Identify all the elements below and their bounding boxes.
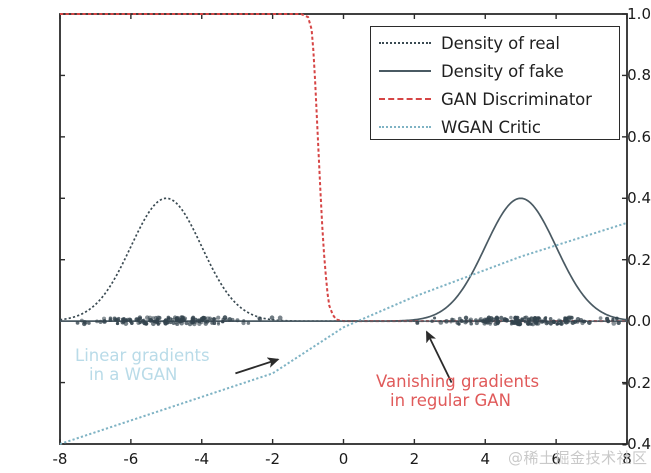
sample-point — [167, 316, 171, 320]
watermark: @稀土掘金技术社区 — [508, 447, 648, 468]
sample-point — [449, 320, 452, 323]
sample-point — [98, 320, 102, 324]
sample-point — [556, 322, 560, 326]
sample-point — [559, 322, 563, 326]
sample-point — [568, 315, 573, 320]
sample-point — [212, 317, 216, 321]
sample-point — [120, 320, 124, 324]
sample-point — [102, 317, 106, 321]
sample-point — [184, 321, 188, 325]
legend-label-wgan-critic: WGAN Critic — [441, 118, 541, 137]
x-tick-label: 4 — [480, 450, 490, 468]
sample-point — [495, 320, 500, 325]
sample-point — [247, 321, 251, 325]
sample-point — [444, 319, 449, 324]
sample-point — [527, 318, 531, 322]
sample-point — [438, 320, 443, 325]
sample-point — [116, 322, 119, 325]
legend-item-gan-discriminator[interactable]: GAN Discriminator — [371, 85, 619, 113]
x-tick-label: -2 — [265, 450, 280, 468]
sample-point — [87, 321, 91, 325]
sample-point — [517, 319, 520, 322]
sample-point — [128, 318, 132, 322]
sample-point — [457, 322, 460, 325]
sample-point — [474, 318, 478, 322]
x-tick-label: 2 — [410, 450, 420, 468]
sample-point — [76, 321, 80, 325]
sample-point — [116, 318, 120, 322]
sample-point — [481, 319, 484, 322]
sample-point — [563, 317, 568, 322]
annotation-gan-line2: in regular GAN — [376, 391, 539, 410]
sample-point — [485, 320, 489, 324]
annotation-wgan: Linear gradients in a WGAN — [75, 346, 210, 385]
annotation-wgan-line2: in a WGAN — [75, 365, 210, 384]
y-tick-label: 0.2 — [599, 251, 651, 269]
sample-point — [204, 322, 208, 326]
sample-point — [415, 321, 419, 325]
legend-swatch-density-fake — [379, 61, 431, 81]
sample-point — [537, 316, 540, 319]
sample-point — [197, 322, 201, 326]
sample-point — [433, 316, 436, 319]
sample-point — [228, 317, 232, 321]
sample-point — [258, 317, 262, 321]
legend-label-density-real: Density of real — [441, 34, 560, 53]
sample-point — [235, 318, 239, 322]
sample-point — [164, 320, 167, 323]
annotation-gan-line1: Vanishing gradients — [376, 372, 539, 391]
sample-point — [464, 316, 468, 320]
sample-point — [509, 316, 513, 320]
sample-point — [221, 318, 224, 321]
sample-point — [95, 319, 99, 323]
sample-point — [534, 320, 538, 324]
annotation-wgan-line1: Linear gradients — [75, 346, 210, 365]
sample-point — [156, 316, 161, 321]
legend-swatch-density-real — [379, 33, 431, 53]
sample-point — [270, 315, 275, 320]
sample-point — [510, 320, 514, 324]
x-tick-label: 0 — [339, 450, 349, 468]
sample-point — [587, 320, 592, 325]
y-tick-label: 0.0 — [599, 312, 651, 330]
legend-item-wgan-critic[interactable]: WGAN Critic — [371, 113, 619, 141]
x-tick-label: -4 — [194, 450, 209, 468]
sample-point — [544, 319, 548, 323]
sample-point — [213, 321, 217, 325]
sample-point — [109, 318, 113, 322]
legend-item-density-fake[interactable]: Density of fake — [371, 57, 619, 85]
x-tick-label: -6 — [123, 450, 138, 468]
sample-point — [495, 317, 498, 320]
sample-point — [242, 319, 245, 322]
sample-point — [523, 316, 527, 320]
sample-point — [570, 320, 575, 325]
sample-point — [517, 322, 522, 327]
y-tick-label: -0.2 — [599, 374, 651, 392]
x-tick-label: -8 — [53, 450, 68, 468]
sample-point — [552, 320, 556, 324]
sample-point — [169, 320, 173, 324]
legend-item-density-real[interactable]: Density of real — [371, 29, 619, 57]
sample-point — [83, 320, 88, 325]
sample-point — [145, 315, 150, 320]
sample-point — [208, 316, 212, 320]
sample-point — [202, 316, 206, 320]
sample-point — [533, 316, 537, 320]
sample-point — [177, 319, 181, 323]
y-tick-label: 1.0 — [599, 5, 651, 23]
sample-point — [579, 318, 584, 323]
legend-label-gan-discriminator: GAN Discriminator — [441, 90, 592, 109]
sample-point — [151, 321, 156, 326]
y-tick-label: 0.4 — [599, 189, 651, 207]
sample-point — [278, 316, 283, 321]
sample-point — [460, 319, 464, 323]
sample-point — [468, 319, 472, 323]
legend-label-density-fake: Density of fake — [441, 62, 564, 81]
sample-point — [489, 322, 492, 325]
legend-swatch-wgan-critic — [379, 117, 431, 137]
sample-point — [138, 321, 141, 324]
legend-swatch-gan-discriminator — [379, 89, 431, 109]
annotation-gan: Vanishing gradients in regular GAN — [376, 372, 539, 411]
sample-point — [430, 319, 434, 323]
sample-point — [549, 317, 553, 321]
chart-root: -0.4-0.20.00.20.40.60.81.0 -8-6-4-202468… — [0, 0, 651, 473]
sample-point — [514, 321, 518, 325]
sample-point — [136, 317, 139, 320]
sample-point — [182, 318, 186, 322]
sample-point — [125, 319, 128, 322]
sample-point — [191, 316, 196, 321]
sample-point — [217, 323, 220, 326]
sample-point — [145, 323, 148, 326]
sample-point — [216, 316, 220, 320]
sample-point — [505, 318, 509, 322]
chart-legend[interactable]: Density of real Density of fake GAN Disc… — [370, 26, 620, 140]
